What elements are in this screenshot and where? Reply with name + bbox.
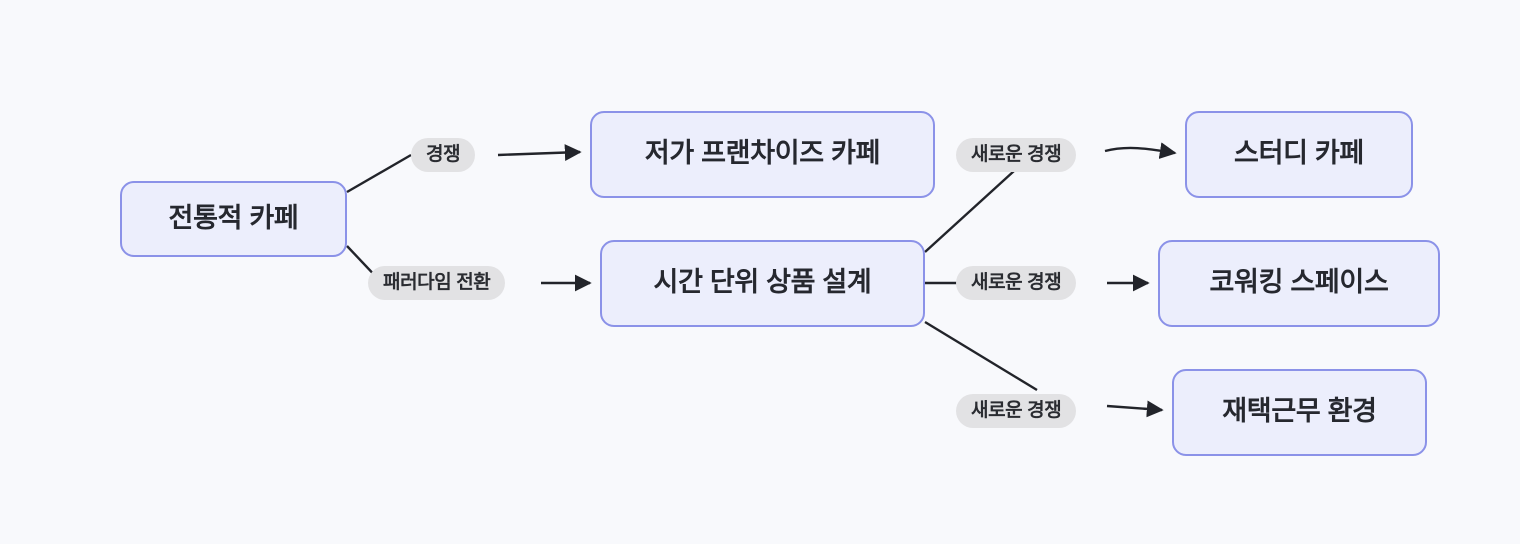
node-label: 전통적 카페 (169, 205, 299, 232)
diagram-canvas: 전통적 카페 저가 프랜차이즈 카페 시간 단위 상품 설계 스터디 카페 코워… (0, 0, 1520, 544)
node-label: 코워킹 스페이스 (1210, 269, 1389, 296)
node-label: 스터디 카페 (1234, 140, 1364, 167)
node-coworking-space[interactable]: 코워킹 스페이스 (1158, 240, 1440, 327)
node-low-cost-franchise-cafe[interactable]: 저가 프랜차이즈 카페 (590, 111, 935, 198)
edge-path-n3-label3 (925, 171, 1014, 252)
edge-path-n3-label5 (925, 322, 1037, 390)
edge-label-new-competition-top[interactable]: 새로운 경쟁 (956, 138, 1076, 172)
node-label: 저가 프랜차이즈 카페 (645, 140, 880, 167)
edge-label-new-competition-bottom[interactable]: 새로운 경쟁 (956, 394, 1076, 428)
node-hourly-product-design[interactable]: 시간 단위 상품 설계 (600, 240, 925, 327)
edge-path-label5-n6 (1107, 406, 1162, 410)
edge-label-text: 새로운 경쟁 (971, 401, 1061, 420)
node-study-cafe[interactable]: 스터디 카페 (1185, 111, 1413, 198)
node-traditional-cafe[interactable]: 전통적 카페 (120, 181, 347, 257)
node-label: 시간 단위 상품 설계 (654, 269, 872, 296)
edge-path-label3-n4 (1105, 148, 1175, 153)
node-remote-work-environment[interactable]: 재택근무 환경 (1172, 369, 1427, 456)
edge-label-text: 경쟁 (426, 145, 460, 164)
edge-path-n1-label1 (347, 155, 411, 192)
edge-path-label1-n2 (498, 152, 580, 155)
edge-label-competition[interactable]: 경쟁 (411, 138, 475, 172)
edge-label-text: 패러다임 전환 (383, 273, 490, 292)
edge-label-paradigm-shift[interactable]: 패러다임 전환 (368, 266, 505, 300)
edge-label-text: 새로운 경쟁 (971, 145, 1061, 164)
edge-label-new-competition-middle[interactable]: 새로운 경쟁 (956, 266, 1076, 300)
node-label: 재택근무 환경 (1222, 398, 1376, 425)
edge-label-text: 새로운 경쟁 (971, 273, 1061, 292)
